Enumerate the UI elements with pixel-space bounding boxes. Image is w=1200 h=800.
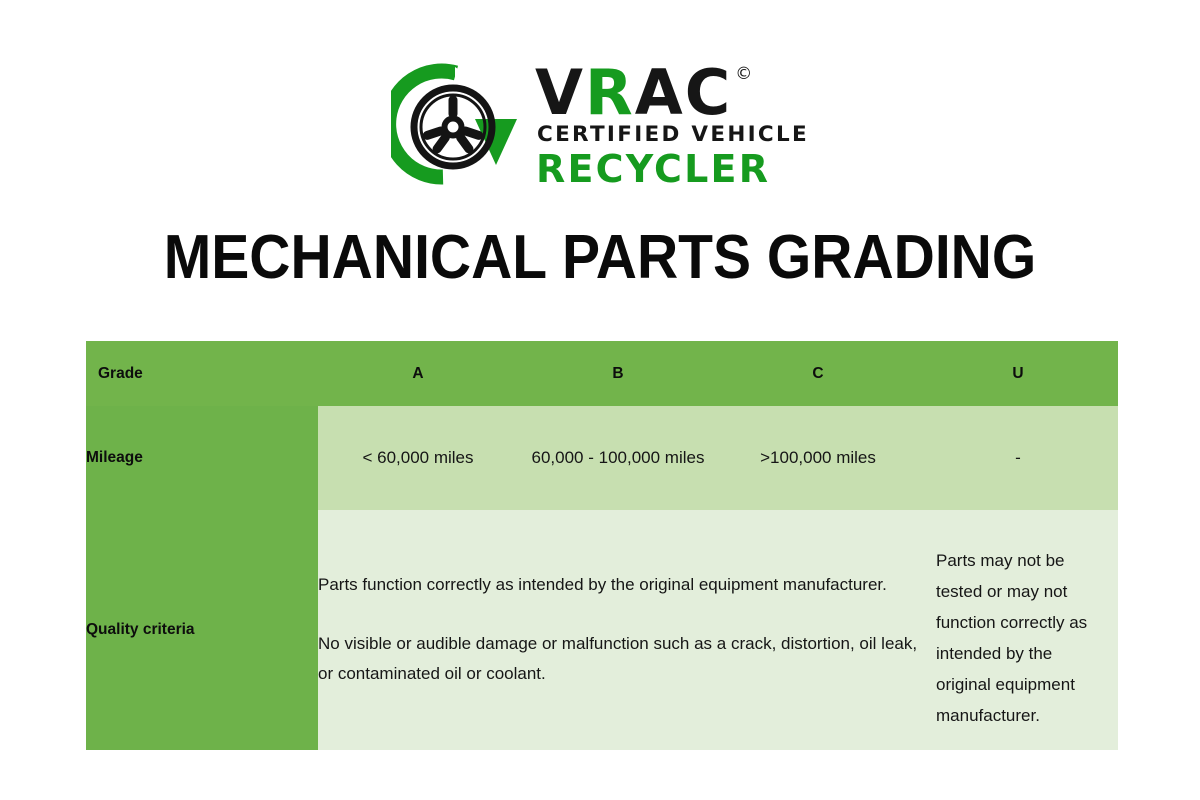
- wheel-recycle-arrow-icon: [391, 61, 521, 191]
- mileage-cell-u: -: [918, 406, 1118, 510]
- brand-logo: V R AC © CERTIFIED VEHICLE RECYCLER: [0, 52, 1200, 200]
- row-label-mileage: Mileage: [86, 406, 318, 510]
- quality-paragraph-2: No visible or audible damage or malfunct…: [318, 629, 918, 691]
- header-cell-c: C: [718, 341, 918, 406]
- mileage-cell-b: 60,000 - 100,000 miles: [518, 406, 718, 510]
- brand-tagline-secondary: RECYCLER: [536, 150, 770, 188]
- header-cell-a: A: [318, 341, 518, 406]
- quality-cell-u: Parts may not be tested or may not funct…: [918, 510, 1118, 750]
- mechanical-parts-grading-table: Grade A B C U Mileage < 60,000 miles 60,…: [86, 341, 1118, 750]
- logo-inner: V R AC © CERTIFIED VEHICLE RECYCLER: [391, 61, 809, 191]
- brand-letter-r: R: [585, 64, 635, 121]
- brand-name: V R AC ©: [535, 64, 754, 121]
- brand-letter-v: V: [535, 64, 585, 121]
- copyright-icon: ©: [735, 66, 754, 83]
- table-row-quality-criteria: Quality criteria Parts function correctl…: [86, 510, 1118, 750]
- table-header-row: Grade A B C U: [86, 341, 1118, 406]
- header-cell-grade: Grade: [86, 341, 318, 406]
- mileage-cell-c: >100,000 miles: [718, 406, 918, 510]
- quality-paragraph-1: Parts function correctly as intended by …: [318, 570, 918, 601]
- row-label-quality-criteria: Quality criteria: [86, 510, 318, 750]
- logo-wordmark: V R AC © CERTIFIED VEHICLE RECYCLER: [535, 64, 809, 188]
- table-row-mileage: Mileage < 60,000 miles 60,000 - 100,000 …: [86, 406, 1118, 510]
- brand-letters-ac: AC: [635, 64, 732, 121]
- page-root: V R AC © CERTIFIED VEHICLE RECYCLER MECH…: [0, 0, 1200, 800]
- page-title: MECHANICAL PARTS GRADING: [48, 222, 1152, 293]
- brand-tagline-primary: CERTIFIED VEHICLE: [537, 124, 809, 146]
- header-cell-u: U: [918, 341, 1118, 406]
- header-cell-b: B: [518, 341, 718, 406]
- quality-cell-abc: Parts function correctly as intended by …: [318, 510, 918, 750]
- mileage-cell-a: < 60,000 miles: [318, 406, 518, 510]
